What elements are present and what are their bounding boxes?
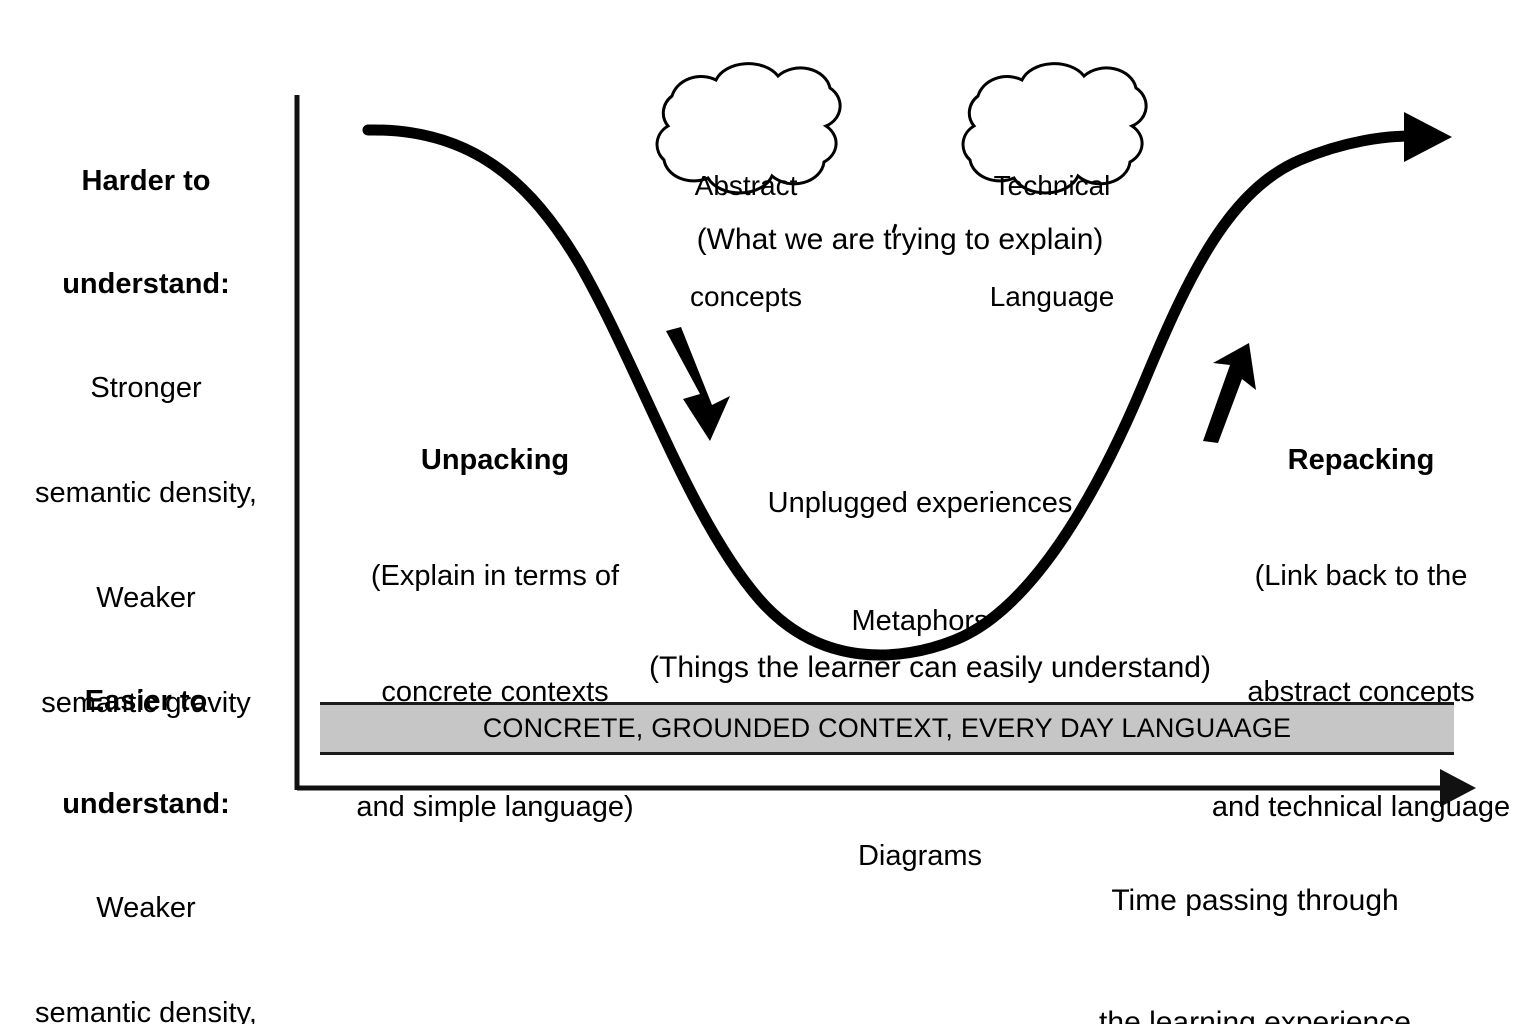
annotation-unpacking-line3: and simple language): [310, 788, 680, 827]
cloud-label-technical-language-line1: Technical: [938, 168, 1166, 205]
y-axis-top-sub-line3: Weaker: [0, 580, 292, 617]
wave-end-arrowhead: [1404, 112, 1452, 162]
diagram-canvas: Harder to understand: Stronger semantic …: [0, 0, 1536, 1024]
annotation-unpacking-heading: Unpacking: [310, 441, 680, 480]
y-axis-top-sub-line1: Stronger: [0, 370, 292, 407]
annotation-unpacking: Unpacking (Explain in terms of concrete …: [310, 364, 680, 904]
y-axis-bottom-sub-line1: Weaker: [0, 890, 292, 927]
y-axis-bottom-label: Easier to understand: Weaker semantic de…: [0, 616, 292, 1024]
annotation-repacking-line1: (Link back to the: [1186, 557, 1536, 596]
y-axis-top-heading-line2: understand:: [0, 267, 292, 302]
x-axis-caption-line2: the learning experience: [1010, 1003, 1500, 1024]
x-axis-caption-line1: Time passing through: [1010, 881, 1500, 922]
concrete-context-band: CONCRETE, GROUNDED CONTEXT, EVERY DAY LA…: [320, 702, 1454, 755]
concrete-context-band-label: CONCRETE, GROUNDED CONTEXT, EVERY DAY LA…: [320, 705, 1454, 752]
annotation-unplugged-line1: Metaphors: [730, 602, 1110, 641]
annotation-unpacking-line1: (Explain in terms of: [310, 557, 680, 596]
y-axis-bottom-heading-line1: Easier to: [0, 684, 292, 719]
caption-easily-understood: (Things the learner can easily understan…: [450, 650, 1410, 685]
y-axis-bottom-heading-line2: understand:: [0, 787, 292, 822]
y-axis-top-heading-line1: Harder to: [0, 164, 292, 199]
x-axis-caption: Time passing through the learning experi…: [1010, 800, 1500, 1024]
y-axis-bottom-sub-line2: semantic density,: [0, 995, 292, 1024]
annotation-unplugged-heading: Unplugged experiences: [730, 484, 1110, 523]
cloud-label-technical-language-line2: Language: [938, 279, 1166, 316]
caption-what-we-explain: (What we are trying to explain): [560, 222, 1240, 257]
cloud-label-abstract-concepts-line1: Abstract: [632, 168, 860, 205]
y-axis-top-sub-line2: semantic density,: [0, 475, 292, 512]
cloud-label-abstract-concepts-line2: concepts: [632, 279, 860, 316]
annotation-repacking-heading: Repacking: [1186, 441, 1536, 480]
